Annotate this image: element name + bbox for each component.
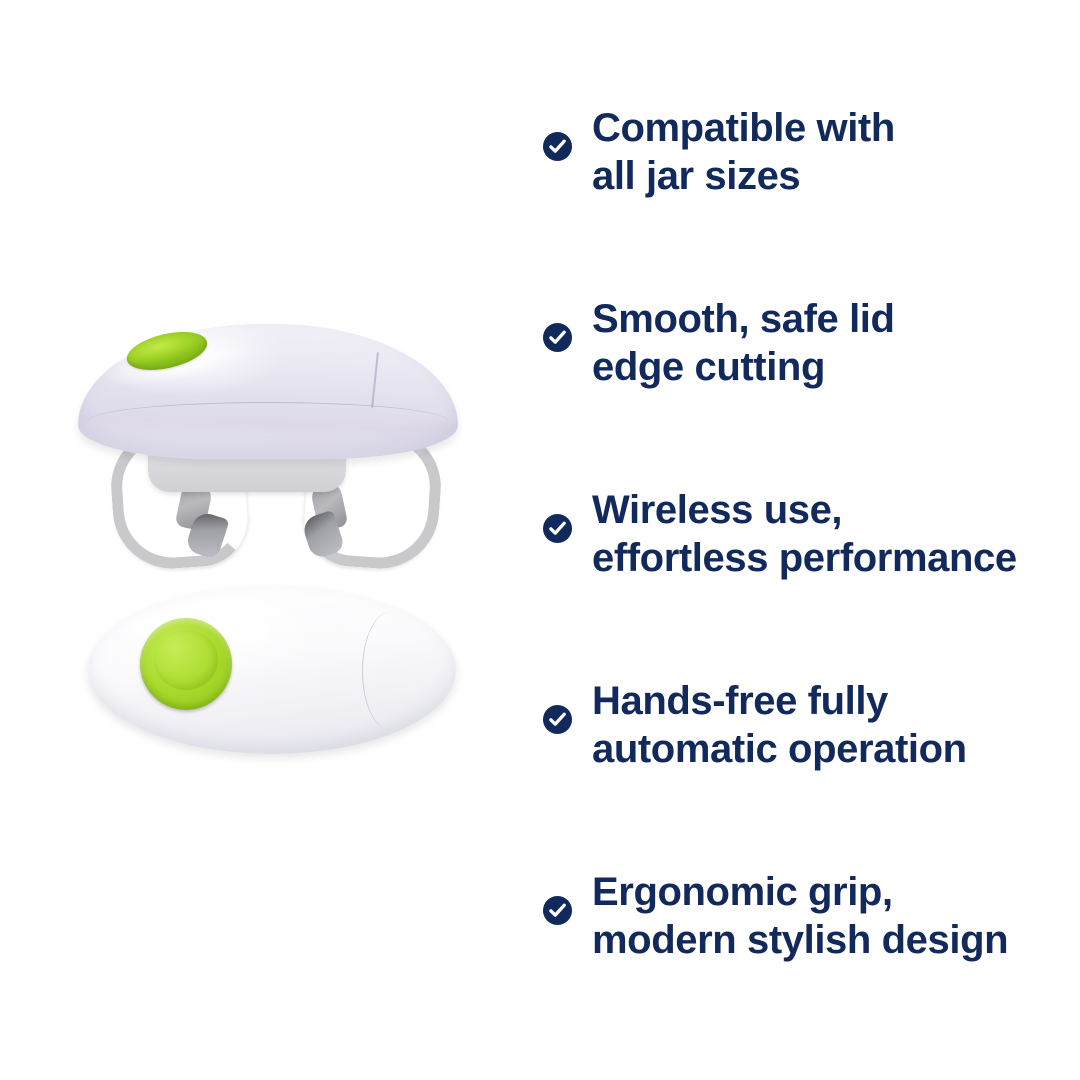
product-top-view xyxy=(88,586,456,754)
device-shell-top xyxy=(88,586,456,754)
feature-item-1: Compatible with all jar sizes xyxy=(542,104,1080,200)
shell-end-seam xyxy=(371,352,379,408)
feature-item-3: Wireless use, effortless performance xyxy=(542,486,1080,582)
feature-label: Ergonomic grip, modern stylish design xyxy=(592,868,1008,964)
power-button-inner-ring xyxy=(154,630,218,690)
feature-item-5: Ergonomic grip, modern stylish design xyxy=(542,868,1080,964)
product-image-area xyxy=(0,0,520,1080)
check-circle-icon xyxy=(542,895,573,926)
product-side-view xyxy=(78,318,458,568)
feature-label: Compatible with all jar sizes xyxy=(592,104,895,200)
check-circle-icon xyxy=(542,322,573,353)
feature-list: Compatible with all jar sizes Smooth, sa… xyxy=(542,0,1080,1080)
power-button-round xyxy=(140,618,232,710)
feature-label: Hands-free fully automatic operation xyxy=(592,677,967,773)
feature-item-4: Hands-free fully automatic operation xyxy=(542,677,1080,773)
check-circle-icon xyxy=(542,513,573,544)
product-feature-card: Compatible with all jar sizes Smooth, sa… xyxy=(0,0,1080,1080)
feature-label: Wireless use, effortless performance xyxy=(592,486,1017,582)
shell-seam-line-top xyxy=(362,612,409,730)
feature-item-2: Smooth, safe lid edge cutting xyxy=(542,295,1080,391)
device-shell xyxy=(78,324,458,459)
feature-label: Smooth, safe lid edge cutting xyxy=(592,295,895,391)
check-circle-icon xyxy=(542,704,573,735)
shell-seam-line xyxy=(88,402,448,421)
check-circle-icon xyxy=(542,131,573,162)
